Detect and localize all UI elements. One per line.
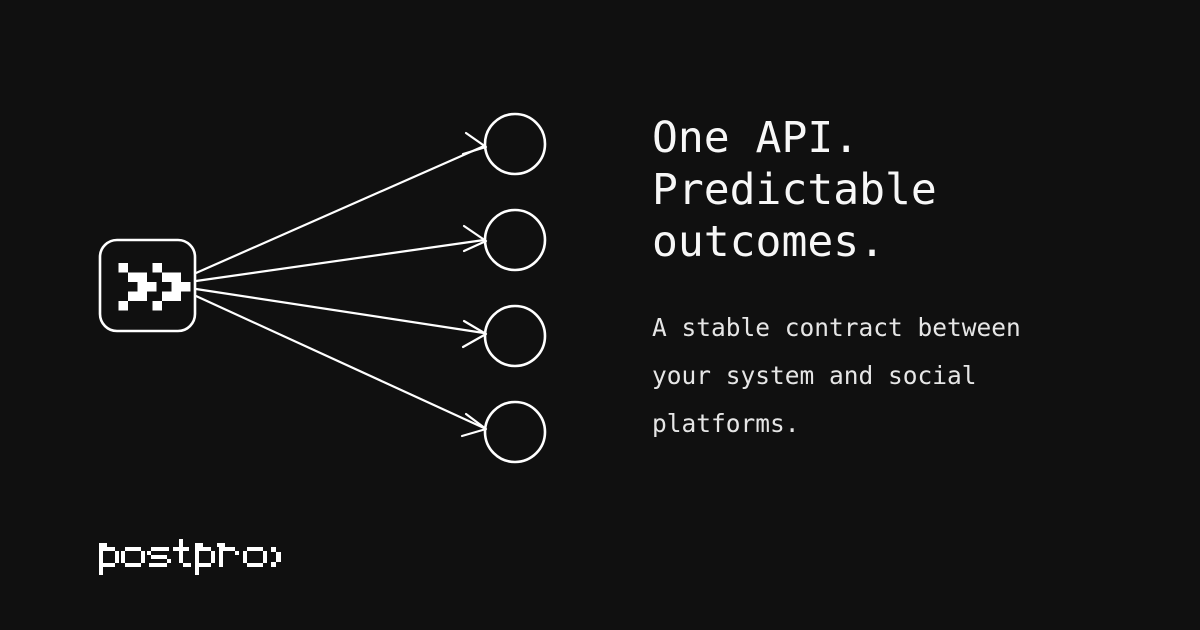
- destination-node-2[interactable]: [485, 210, 545, 270]
- arrowhead-group: [462, 133, 486, 436]
- edge-group: [196, 146, 484, 428]
- edge-to-node-4: [196, 296, 484, 428]
- destination-node-3[interactable]: [485, 306, 545, 366]
- arrowhead-icon-2: [464, 226, 486, 251]
- brand-wordmark: [99, 535, 281, 579]
- headline: One API. Predictable outcomes.: [652, 112, 1122, 268]
- arrowhead-icon-1: [463, 133, 486, 154]
- node-group: [485, 114, 545, 462]
- edge-to-node-3: [196, 289, 484, 333]
- copy-block: One API. Predictable outcomes. A stable …: [652, 112, 1122, 448]
- destination-node-4[interactable]: [485, 402, 545, 462]
- arrowhead-icon-4: [462, 414, 486, 436]
- edge-to-node-1: [196, 146, 484, 273]
- destination-node-1[interactable]: [485, 114, 545, 174]
- arrowhead-icon-3: [463, 321, 486, 347]
- edge-to-node-2: [196, 240, 484, 281]
- subcopy: A stable contract between your system an…: [652, 268, 1122, 448]
- wordmark-pixels: [99, 539, 281, 575]
- promo-card: One API. Predictable outcomes. A stable …: [0, 0, 1200, 630]
